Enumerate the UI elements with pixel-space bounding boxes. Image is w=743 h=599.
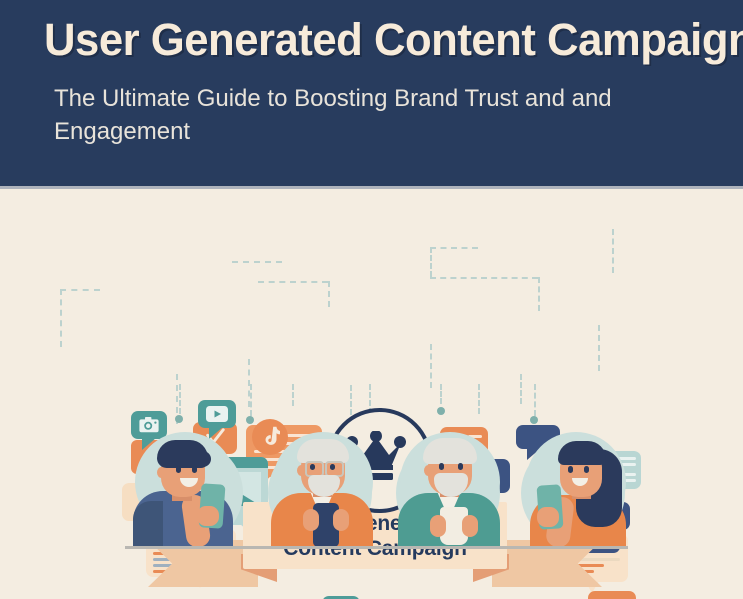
eye [439, 463, 444, 470]
person-older-man-orange [265, 429, 385, 549]
hanger-line [292, 384, 294, 406]
hanger-line [179, 384, 181, 414]
hand [197, 506, 219, 526]
hand [303, 509, 319, 531]
hanger-line [440, 384, 442, 404]
connector-line [598, 325, 600, 371]
person-young-woman [518, 429, 638, 549]
hanger-dot [530, 416, 538, 424]
eye [176, 466, 181, 473]
connector-line [350, 385, 352, 415]
connector-line [612, 229, 614, 273]
eye [330, 464, 335, 470]
connector-line [60, 289, 62, 347]
header-banner: User Generated Content Campaign The Ulti… [0, 0, 743, 186]
ear [424, 465, 433, 476]
person-young-man [128, 429, 248, 549]
message-icon[interactable] [588, 591, 636, 599]
page-title: User Generated Content Campaign [44, 14, 701, 66]
connector-line [538, 277, 540, 311]
hanger-dot [246, 416, 254, 424]
eye [192, 466, 197, 473]
torso-shadow [133, 501, 163, 547]
connector-line [430, 277, 538, 279]
eye [310, 464, 315, 470]
hair [297, 439, 349, 463]
page-subtitle: The Ultimate Guide to Boosting Brand Tru… [54, 82, 654, 148]
play-glyph [206, 406, 228, 422]
hand [333, 509, 349, 531]
hair [423, 438, 477, 464]
connector-line [258, 281, 328, 283]
hand [537, 507, 559, 527]
eye [584, 466, 589, 473]
ear [157, 467, 166, 478]
hand [430, 515, 446, 537]
person-older-man-teal [392, 429, 512, 549]
hair-fringe [191, 451, 211, 467]
hanger-dot [437, 407, 445, 415]
connector-line [520, 374, 522, 404]
hair-front [558, 441, 606, 465]
hanger-line [478, 384, 480, 414]
hanger-line [250, 384, 252, 416]
connector-line [430, 344, 432, 388]
youtube-icon[interactable] [198, 400, 236, 428]
hanger-dot [175, 415, 183, 423]
infographic-page: User Generated Content Campaign The Ulti… [0, 0, 743, 599]
hand [462, 515, 478, 537]
hanger-line [534, 384, 536, 416]
connector-line [328, 281, 330, 307]
eye [458, 463, 463, 470]
eye [568, 466, 573, 473]
ground-line [125, 546, 628, 549]
illustration-area: User Generated Content Campaign [0, 189, 743, 599]
connector-line [232, 261, 282, 263]
connector-line [60, 289, 100, 291]
connector-line [430, 247, 432, 277]
connector-line [430, 247, 478, 249]
